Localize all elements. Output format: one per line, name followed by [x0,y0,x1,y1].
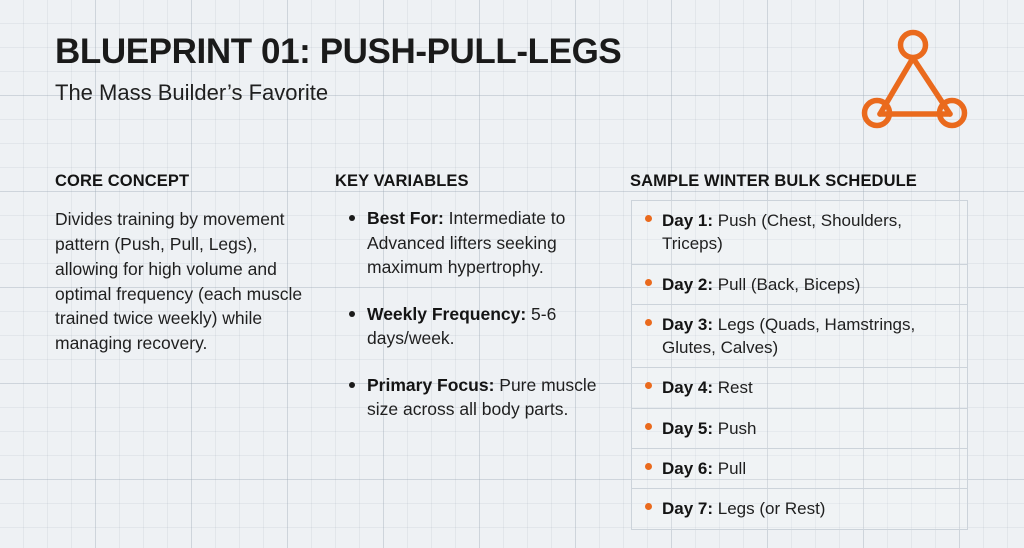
page-subtitle: The Mass Builder’s Favorite [55,80,845,106]
schedule-day-label: Day 3: [662,315,713,334]
bullet-dot-icon [645,382,652,389]
bullet-dot-icon [645,215,652,222]
schedule-day-label: Day 1: [662,211,713,230]
table-row: Day 5: Push [632,409,967,449]
bullet-dot-icon [349,382,355,388]
key-variable-label: Primary Focus: [367,375,494,395]
schedule-day-label: Day 6: [662,459,713,478]
key-variable-label: Weekly Frequency: [367,304,526,324]
table-row: Day 1: Push (Chest, Shoulders, Triceps) [632,201,967,265]
page-title: BLUEPRINT 01: PUSH-PULL-LEGS [55,32,845,71]
list-item: Weekly Frequency: 5-6 days/week. [345,302,597,351]
schedule-day-text: Pull [713,459,746,478]
bullet-dot-icon [349,311,355,317]
header-block: BLUEPRINT 01: PUSH-PULL-LEGS The Mass Bu… [55,32,845,107]
table-row: Day 2: Pull (Back, Biceps) [632,265,967,305]
bullet-dot-icon [645,503,652,510]
bullet-dot-icon [645,423,652,430]
schedule-day-text: Push [713,419,756,438]
table-row: Day 6: Pull [632,449,967,489]
list-item: Best For: Intermediate to Advanced lifte… [345,206,597,280]
triangle-nodes-logo-icon [860,22,970,132]
table-row: Day 7: Legs (or Rest) [632,489,967,528]
schedule-day-text: Legs (or Rest) [713,499,825,518]
key-variable-label: Best For: [367,208,444,228]
bullet-dot-icon [645,463,652,470]
bullet-dot-icon [645,319,652,326]
schedule-day-text: Pull (Back, Biceps) [713,275,860,294]
key-variables-heading: KEY VARIABLES [335,172,469,191]
schedule-day-text: Rest [713,378,753,397]
core-concept-heading: CORE CONCEPT [55,172,189,191]
schedule-heading: SAMPLE WINTER BULK SCHEDULE [630,172,917,191]
schedule-day-label: Day 5: [662,419,713,438]
table-row: Day 4: Rest [632,368,967,408]
schedule-day-label: Day 2: [662,275,713,294]
infographic-canvas: BLUEPRINT 01: PUSH-PULL-LEGS The Mass Bu… [0,0,1024,548]
bullet-dot-icon [349,215,355,221]
schedule-day-label: Day 7: [662,499,713,518]
schedule-day-label: Day 4: [662,378,713,397]
list-item: Primary Focus: Pure muscle size across a… [345,373,597,422]
table-row: Day 3: Legs (Quads, Hamstrings, Glutes, … [632,305,967,369]
schedule-table: Day 1: Push (Chest, Shoulders, Triceps) … [631,200,968,530]
key-variables-list: Best For: Intermediate to Advanced lifte… [345,206,597,422]
bullet-dot-icon [645,279,652,286]
core-concept-body: Divides training by movement pattern (Pu… [55,207,323,356]
